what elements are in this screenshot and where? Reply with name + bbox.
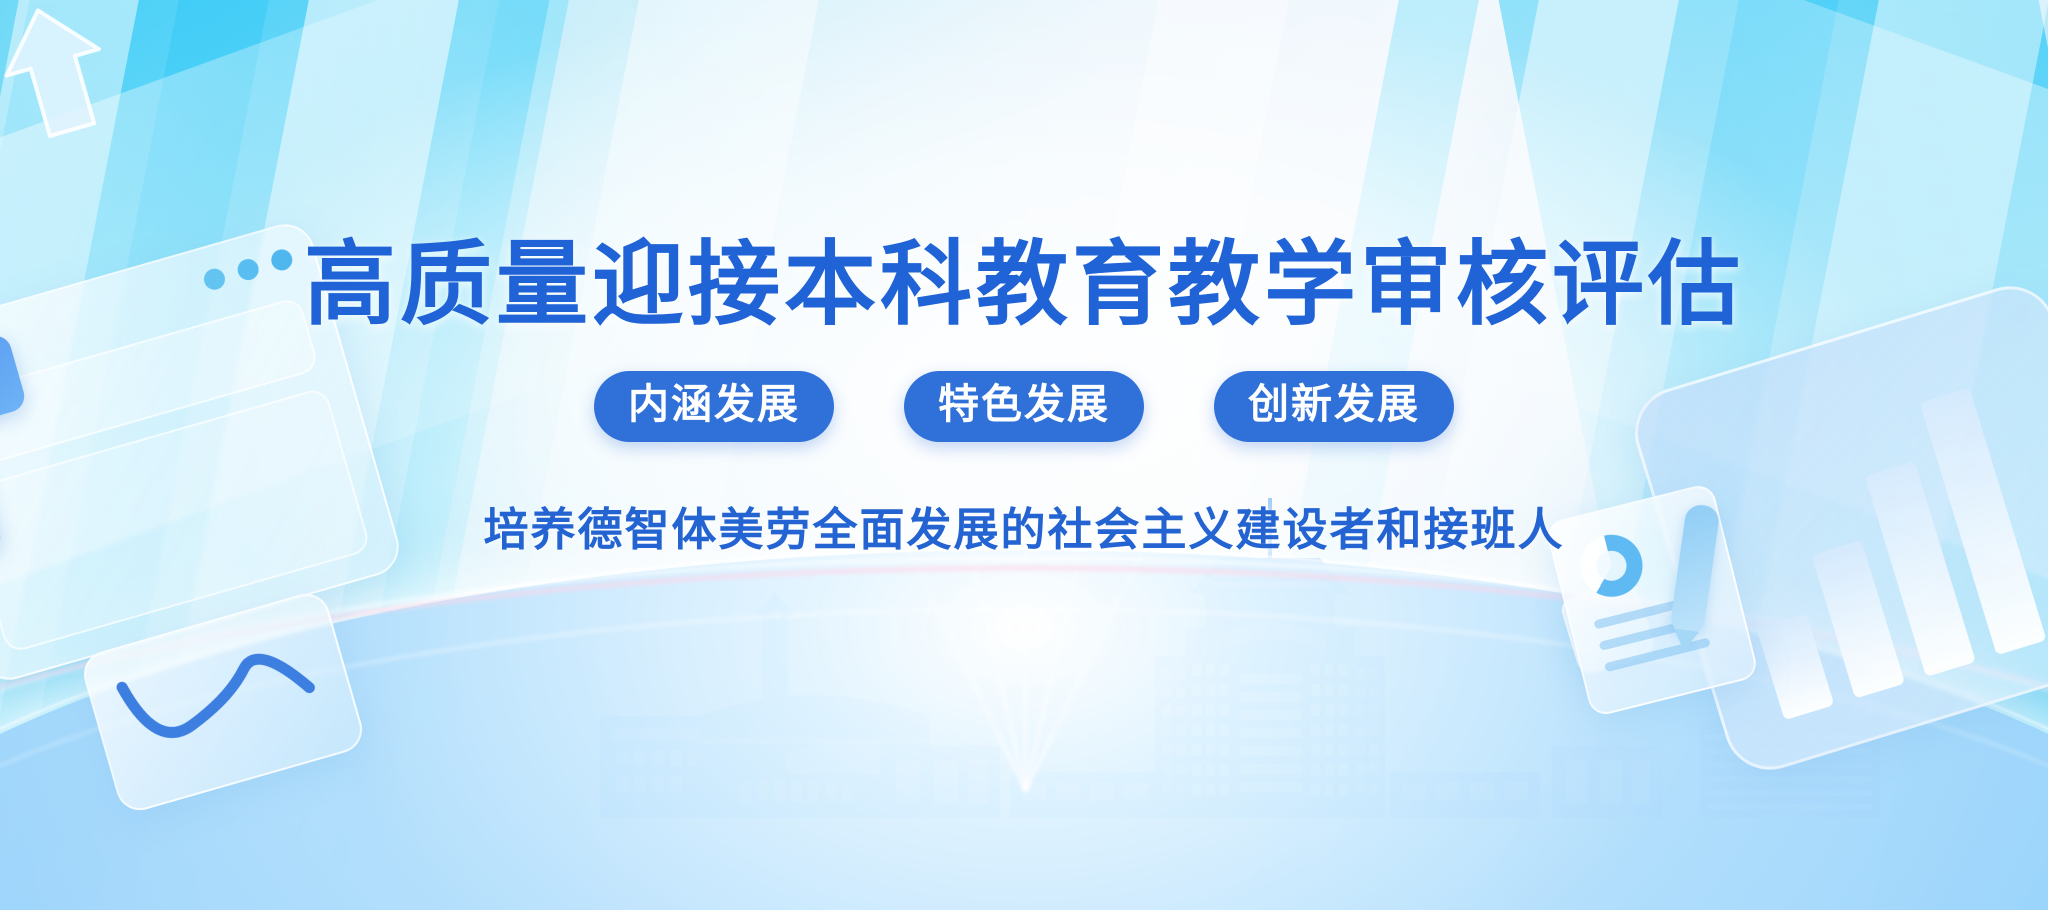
keyword-pill-row: 内涵发展 特色发展 创新发展: [0, 371, 2048, 442]
page-subtitle: 培养德智体美劳全面发展的社会主义建设者和接班人: [0, 493, 2048, 558]
banner-content: 高质量迎接本科教育教学审核评估 内涵发展 特色发展 创新发展 培养德智体美劳全面…: [0, 0, 2048, 910]
pill-chuangxin-fazhan[interactable]: 创新发展: [1214, 371, 1454, 442]
page-title: 高质量迎接本科教育教学审核评估: [0, 238, 2048, 330]
pill-tese-fazhan[interactable]: 特色发展: [904, 371, 1144, 442]
pill-neihan-fazhan[interactable]: 内涵发展: [594, 371, 834, 442]
evaluation-banner: 高质量迎接本科教育教学审核评估 内涵发展 特色发展 创新发展 培养德智体美劳全面…: [0, 0, 2048, 910]
